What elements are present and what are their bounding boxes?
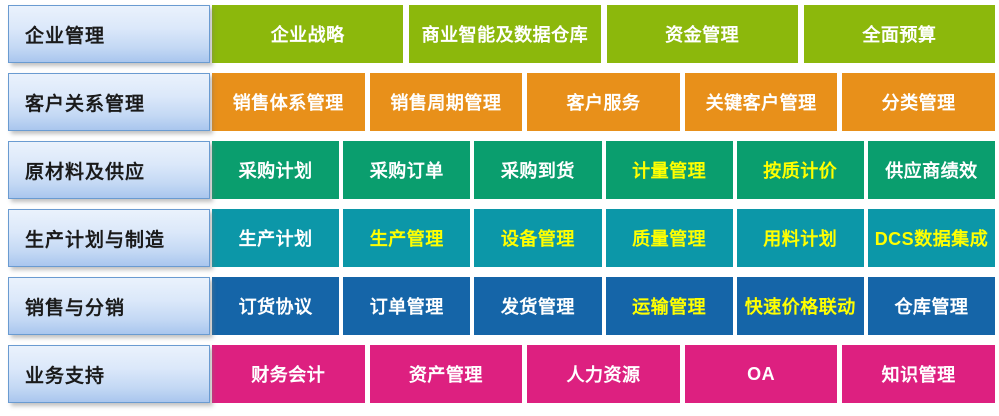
module-cell-label: 发货管理 (501, 293, 575, 319)
matrix-row: 业务支持财务会计资产管理人力资源OA知识管理 (0, 345, 999, 403)
module-cell-label: 用料计划 (763, 225, 837, 251)
module-cell[interactable]: 客户服务 (527, 73, 680, 131)
row-cells: 企业战略商业智能及数据仓库资金管理全面预算 (212, 5, 995, 63)
module-cell[interactable]: DCS数据集成 (868, 209, 995, 267)
module-cell-label: 生产计划 (239, 225, 313, 251)
module-cell[interactable]: 仓库管理 (868, 277, 995, 335)
module-cell-label: 客户服务 (566, 89, 640, 115)
module-cell-label: 采购计划 (239, 157, 313, 183)
module-cell-label: 商业智能及数据仓库 (422, 21, 589, 47)
module-cell-label: 资金管理 (665, 21, 739, 47)
module-cell[interactable]: OA (685, 345, 838, 403)
module-cell[interactable]: 用料计划 (737, 209, 864, 267)
matrix-row: 生产计划与制造生产计划生产管理设备管理质量管理用料计划DCS数据集成 (0, 209, 999, 267)
module-matrix: 企业管理企业战略商业智能及数据仓库资金管理全面预算客户关系管理销售体系管理销售周… (0, 0, 999, 416)
module-cell[interactable]: 发货管理 (474, 277, 601, 335)
module-cell[interactable]: 运输管理 (606, 277, 733, 335)
matrix-row: 原材料及供应采购计划采购订单采购到货计量管理按质计价供应商绩效 (0, 141, 999, 199)
module-cell[interactable]: 知识管理 (842, 345, 995, 403)
module-cell[interactable]: 财务会计 (212, 345, 365, 403)
module-cell[interactable]: 采购计划 (212, 141, 339, 199)
matrix-row: 销售与分销订货协议订单管理发货管理运输管理快速价格联动仓库管理 (0, 277, 999, 335)
row-label-3[interactable]: 生产计划与制造 (8, 209, 210, 267)
module-cell-label: 销售周期管理 (390, 89, 501, 115)
row-label-0[interactable]: 企业管理 (8, 5, 210, 63)
module-cell[interactable]: 分类管理 (842, 73, 995, 131)
module-cell[interactable]: 采购到货 (474, 141, 601, 199)
row-label-4[interactable]: 销售与分销 (8, 277, 210, 335)
module-cell[interactable]: 企业战略 (212, 5, 403, 63)
module-cell-label: DCS数据集成 (875, 225, 989, 251)
module-cell[interactable]: 资产管理 (370, 345, 523, 403)
module-cell[interactable]: 采购订单 (343, 141, 470, 199)
module-cell[interactable]: 设备管理 (474, 209, 601, 267)
module-cell-label: 生产管理 (370, 225, 444, 251)
module-cell-label: 销售体系管理 (233, 89, 344, 115)
module-cell[interactable]: 人力资源 (527, 345, 680, 403)
module-cell-label: 采购到货 (501, 157, 575, 183)
row-cells: 采购计划采购订单采购到货计量管理按质计价供应商绩效 (212, 141, 995, 199)
row-label-1[interactable]: 客户关系管理 (8, 73, 210, 131)
module-cell-label: 全面预算 (862, 21, 936, 47)
matrix-row: 企业管理企业战略商业智能及数据仓库资金管理全面预算 (0, 5, 999, 63)
module-cell-label: 质量管理 (632, 225, 706, 251)
module-cell[interactable]: 订单管理 (343, 277, 470, 335)
module-cell-label: 人力资源 (566, 361, 640, 387)
module-cell[interactable]: 质量管理 (606, 209, 733, 267)
module-cell-label: 知识管理 (882, 361, 956, 387)
module-cell-label: 设备管理 (501, 225, 575, 251)
row-cells: 生产计划生产管理设备管理质量管理用料计划DCS数据集成 (212, 209, 995, 267)
module-cell-label: 资产管理 (409, 361, 483, 387)
module-cell-label: 财务会计 (251, 361, 325, 387)
module-cell-label: 分类管理 (882, 89, 956, 115)
module-cell[interactable]: 生产管理 (343, 209, 470, 267)
module-cell[interactable]: 全面预算 (804, 5, 995, 63)
matrix-row: 客户关系管理销售体系管理销售周期管理客户服务关键客户管理分类管理 (0, 73, 999, 131)
module-cell[interactable]: 资金管理 (607, 5, 798, 63)
module-cell[interactable]: 快速价格联动 (737, 277, 864, 335)
row-label-2[interactable]: 原材料及供应 (8, 141, 210, 199)
module-cell[interactable]: 关键客户管理 (685, 73, 838, 131)
module-cell-label: 订货协议 (239, 293, 313, 319)
module-cell[interactable]: 销售周期管理 (370, 73, 523, 131)
row-label-5[interactable]: 业务支持 (8, 345, 210, 403)
row-cells: 订货协议订单管理发货管理运输管理快速价格联动仓库管理 (212, 277, 995, 335)
module-cell[interactable]: 计量管理 (606, 141, 733, 199)
module-cell[interactable]: 订货协议 (212, 277, 339, 335)
module-cell-label: OA (747, 364, 775, 385)
module-cell-label: 采购订单 (370, 157, 444, 183)
module-cell-label: 企业战略 (271, 21, 345, 47)
row-cells: 销售体系管理销售周期管理客户服务关键客户管理分类管理 (212, 73, 995, 131)
module-cell[interactable]: 按质计价 (737, 141, 864, 199)
module-cell-label: 运输管理 (632, 293, 706, 319)
module-cell[interactable]: 商业智能及数据仓库 (409, 5, 600, 63)
module-cell-label: 供应商绩效 (885, 157, 978, 183)
module-cell[interactable]: 生产计划 (212, 209, 339, 267)
module-cell-label: 计量管理 (632, 157, 706, 183)
module-cell[interactable]: 供应商绩效 (868, 141, 995, 199)
module-cell-label: 按质计价 (763, 157, 837, 183)
module-cell-label: 关键客户管理 (706, 89, 817, 115)
module-cell-label: 仓库管理 (894, 293, 968, 319)
row-cells: 财务会计资产管理人力资源OA知识管理 (212, 345, 995, 403)
module-cell[interactable]: 销售体系管理 (212, 73, 365, 131)
module-cell-label: 快速价格联动 (745, 293, 856, 319)
module-cell-label: 订单管理 (370, 293, 444, 319)
